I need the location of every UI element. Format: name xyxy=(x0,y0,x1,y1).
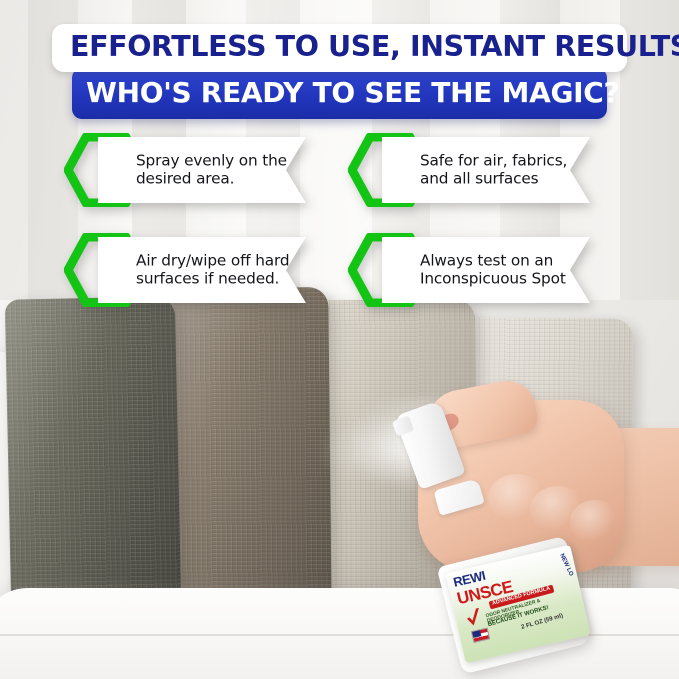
feature-card-2: Safe for air, fabrics, and all surfaces xyxy=(348,131,612,209)
headline-primary: EFFORTLESS TO USE, INSTANT RESULTS xyxy=(52,24,627,72)
feature-card-3: Air dry/wipe off hard surfaces if needed… xyxy=(64,231,328,309)
feature-text-3: Air dry/wipe off hard surfaces if needed… xyxy=(136,252,306,287)
knuckle xyxy=(570,500,620,544)
feature-card-4: Always test on an Inconspicuous Spot xyxy=(348,231,612,309)
feature-text-2: Safe for air, fabrics, and all surfaces xyxy=(420,152,590,187)
feature-card-1: Spray evenly on the desired area. xyxy=(64,131,328,209)
feature-text-1: Spray evenly on the desired area. xyxy=(136,152,306,187)
infographic-canvas: REWI UNSCE ADVANCED FORMULA ODOR NEUTRAL… xyxy=(0,0,679,679)
headline-primary-text: EFFORTLESS TO USE, INSTANT RESULTS xyxy=(70,33,609,62)
hand-with-spray-bottle: REWI UNSCE ADVANCED FORMULA ODOR NEUTRAL… xyxy=(392,372,679,632)
headline-secondary-bar: WHO'S READY TO SEE THE MAGIC? xyxy=(72,68,607,119)
us-flag-icon xyxy=(471,627,490,643)
checkmark-icon xyxy=(464,607,484,630)
feature-text-4: Always test on an Inconspicuous Spot xyxy=(420,252,590,287)
pillow-olive xyxy=(5,296,181,611)
headline-block: EFFORTLESS TO USE, INSTANT RESULTS WHO'S… xyxy=(52,24,627,119)
headline-secondary-text: WHO'S READY TO SEE THE MAGIC? xyxy=(86,79,593,107)
